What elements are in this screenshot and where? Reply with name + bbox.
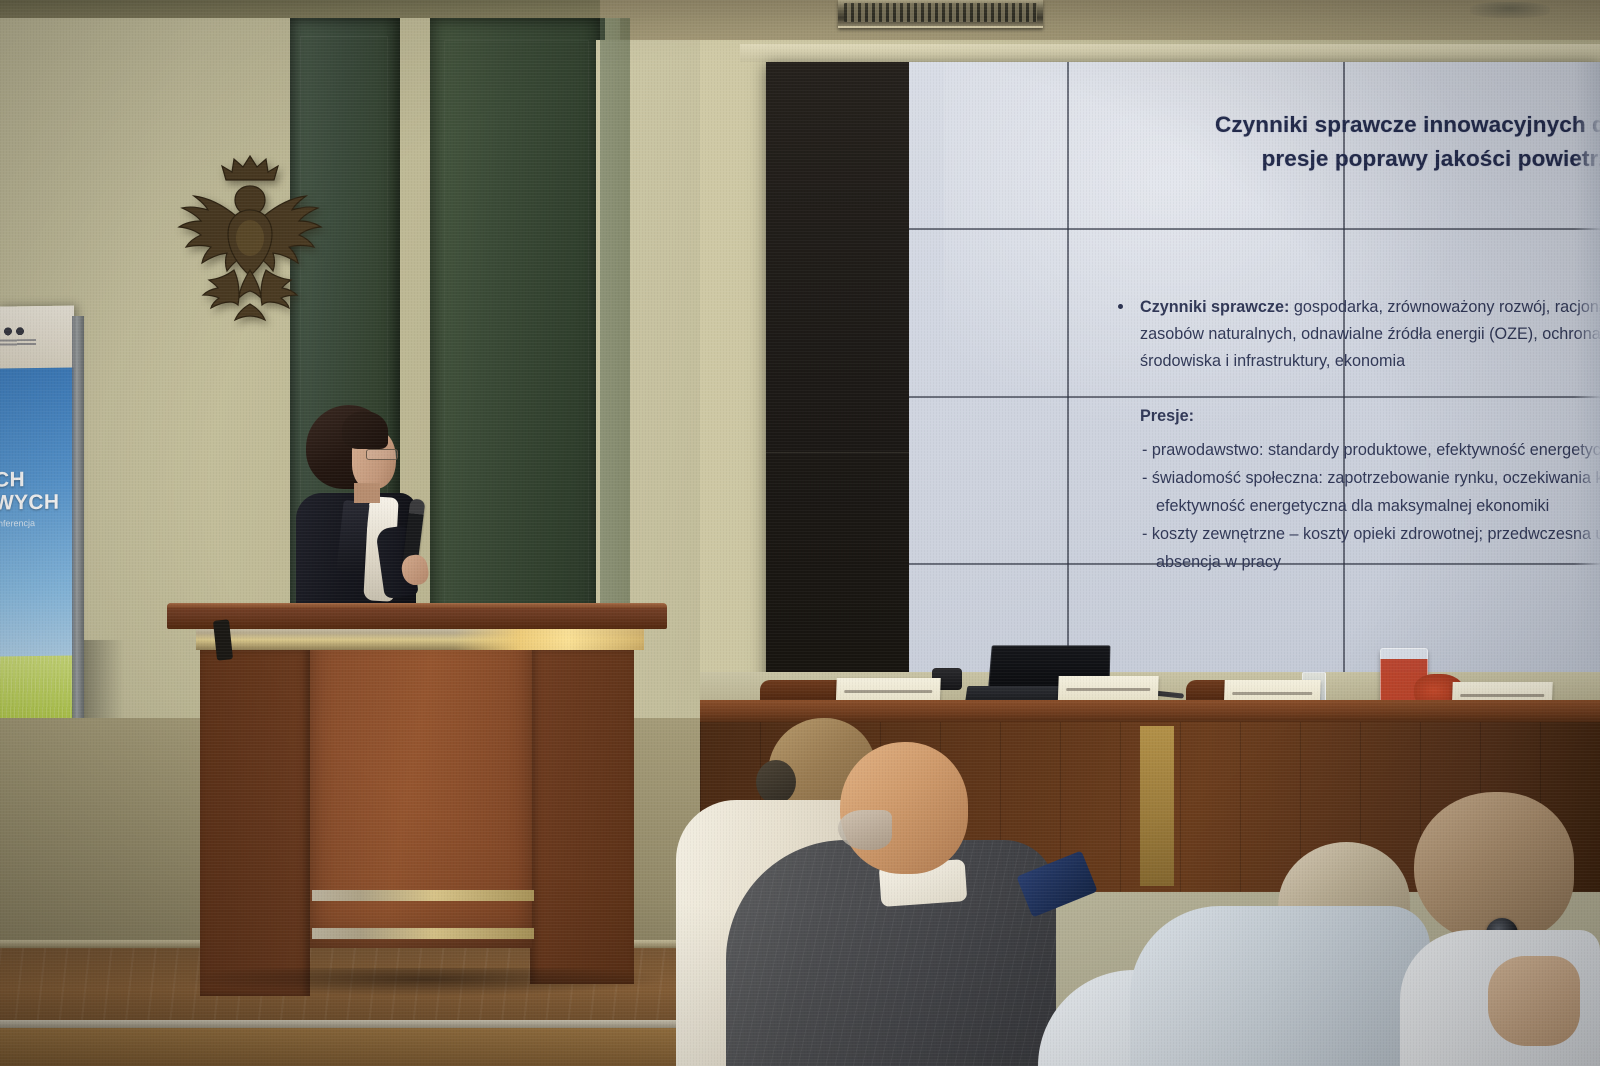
table-panel-accent [1140,726,1174,886]
ceiling-spotlight-icon [1470,2,1550,18]
presje-item-4: absencja w pracy [1142,549,1600,576]
banner-logo-icon [2,326,28,336]
banner-headline-line1: CH [0,467,74,491]
bullet-text-line1: gospodarka, zrównoważony rozwój, racjona… [1289,298,1600,316]
slide-title-line2: presje poprawy jakości powietrza [1092,142,1600,176]
presje-item-1: - świadomość społeczna: zapotrzebowanie … [1142,465,1600,492]
banner-headline: CH WYCH [0,467,74,514]
audience-member-2-head [840,742,968,874]
ceiling-vent-icon [838,0,1043,28]
screen-frame-top [740,44,1600,62]
presje-item-0: - prawodawstwo: standardy produktowe, ef… [1142,437,1600,464]
speaker-person [280,405,450,620]
banner-header [0,305,74,368]
presje-heading: Presje: [1094,403,1600,430]
podium-stripe-upper [312,890,534,901]
podium-front-panel [310,648,532,948]
audience-member-4-hand [1488,956,1580,1046]
name-card-line [1232,692,1313,695]
ceiling-beam-left [0,0,600,20]
speaker-hair-front [342,411,388,449]
video-wall-dark-panel [766,62,909,714]
audience-member-3-body [1130,906,1430,1066]
bullet-label: Czynniki sprawcze: [1140,298,1289,316]
banner-headline-line2: WYCH [0,490,74,514]
banner-logo-caption [0,339,36,347]
audience-member-1-hairknot [756,760,796,804]
polish-eagle-emblem [150,138,350,338]
speaker-neck [354,483,380,503]
slide-title: Czynniki sprawcze innowacyjnych działań … [1092,108,1600,176]
banner-subtitle: nferencja [0,518,68,529]
video-wall-display[interactable]: Czynniki sprawcze innowacyjnych działań … [766,62,1600,714]
slide-bullet-item: Czynniki sprawcze: gospodarka, zrównoważ… [1094,294,1600,321]
bullet-text-line3: środowiska i infrastruktury, ekonomia [1094,348,1600,375]
projected-slide-surface: Czynniki sprawcze innowacyjnych działań … [909,62,1600,714]
name-card-line [1460,694,1544,697]
podium-desktop [167,603,667,629]
podium-shadow [190,968,660,996]
name-card-line [845,690,932,693]
slide-body: Czynniki sprawcze: gospodarka, zrównoważ… [1094,294,1600,577]
podium-stripe-lower [312,928,534,939]
bullet-dot-icon [1118,304,1123,309]
bullet-text-line2: zasobów naturalnych, odnawialne źródła e… [1094,321,1600,348]
slide-content: Czynniki sprawcze innowacyjnych działań … [1052,62,1600,714]
podium-right-side [530,648,634,984]
presje-list: - prawodawstwo: standardy produktowe, ef… [1094,437,1600,576]
podium-brass-band [196,626,644,650]
presje-item-2: efektywność energetyczna dla maksymalnej… [1142,493,1600,520]
slide-title-line1: Czynniki sprawcze innowacyjnych działań [1215,112,1600,137]
name-card-line [1066,688,1150,691]
floor-lower [0,1028,700,1066]
glasses-icon [366,449,398,460]
vent-grille [844,3,1037,22]
podium-left-side [200,648,310,996]
presje-item-3: - koszty zewnętrzne – koszty opieki zdro… [1142,521,1600,548]
conference-photo-scene: CH WYCH nferencja wości Odnawialne Czynn… [0,0,1600,1066]
